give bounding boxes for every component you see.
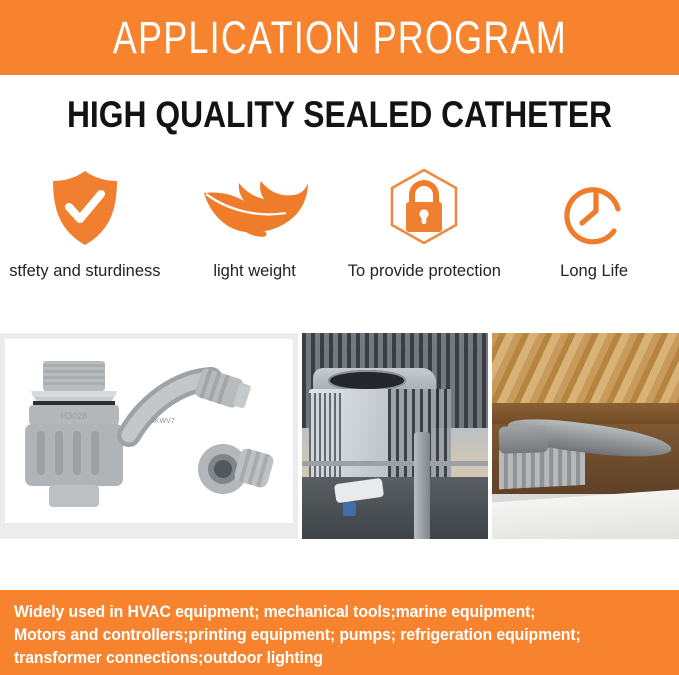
feature-label: light weight [213, 262, 296, 281]
feature-row: stfety and sturdiness light weight [0, 168, 679, 293]
fan-opening [328, 370, 406, 391]
svg-text:H3028: H3028 [61, 411, 88, 421]
usage-line: Widely used in HVAC equipment; mechanica… [14, 600, 623, 623]
conduit-installation-photo [492, 333, 679, 539]
foam-insulation [492, 489, 679, 539]
feature-label: To provide protection [348, 262, 501, 281]
feature-label: Long Life [560, 262, 628, 281]
subheading: HIGH QUALITY SEALED CATHETER [48, 96, 632, 133]
photo-strip: H3028 4KWV7 [0, 333, 679, 539]
feature-item-safety: stfety and sturdiness [0, 168, 170, 281]
conduit-fitting [499, 425, 549, 453]
feather-icon [200, 168, 310, 248]
top-banner: APPLICATION PROGRAM [0, 0, 679, 75]
hvac-condenser-photo [302, 333, 488, 539]
application-program-infographic: APPLICATION PROGRAM HIGH QUALITY SEALED … [0, 0, 679, 675]
feature-label: stfety and sturdiness [9, 262, 160, 281]
feature-item-long-life: Long Life [509, 168, 679, 281]
blue-fitting [343, 502, 356, 516]
usage-line: transformer connections;outdoor lighting [14, 646, 623, 669]
feature-item-protection: To provide protection [340, 168, 510, 281]
rooftop-deck [302, 477, 488, 539]
hexagon-lock-icon [385, 168, 463, 248]
clock-icon [556, 168, 632, 248]
svg-text:4KWV7: 4KWV7 [151, 418, 175, 425]
bottom-banner: Widely used in HVAC equipment; mechanica… [0, 590, 679, 675]
product-connectors-photo: H3028 4KWV7 [0, 333, 298, 539]
feature-item-light-weight: light weight [170, 168, 340, 281]
osb-sheathing [492, 333, 679, 411]
usage-line: Motors and controllers;printing equipmen… [14, 623, 623, 646]
page-title: APPLICATION PROGRAM [112, 15, 566, 60]
support-rail [302, 461, 488, 466]
condenser-vents [309, 393, 341, 480]
support-post [414, 432, 431, 539]
photo-white-field: H3028 4KWV7 [5, 339, 293, 523]
shield-check-icon [48, 168, 122, 248]
